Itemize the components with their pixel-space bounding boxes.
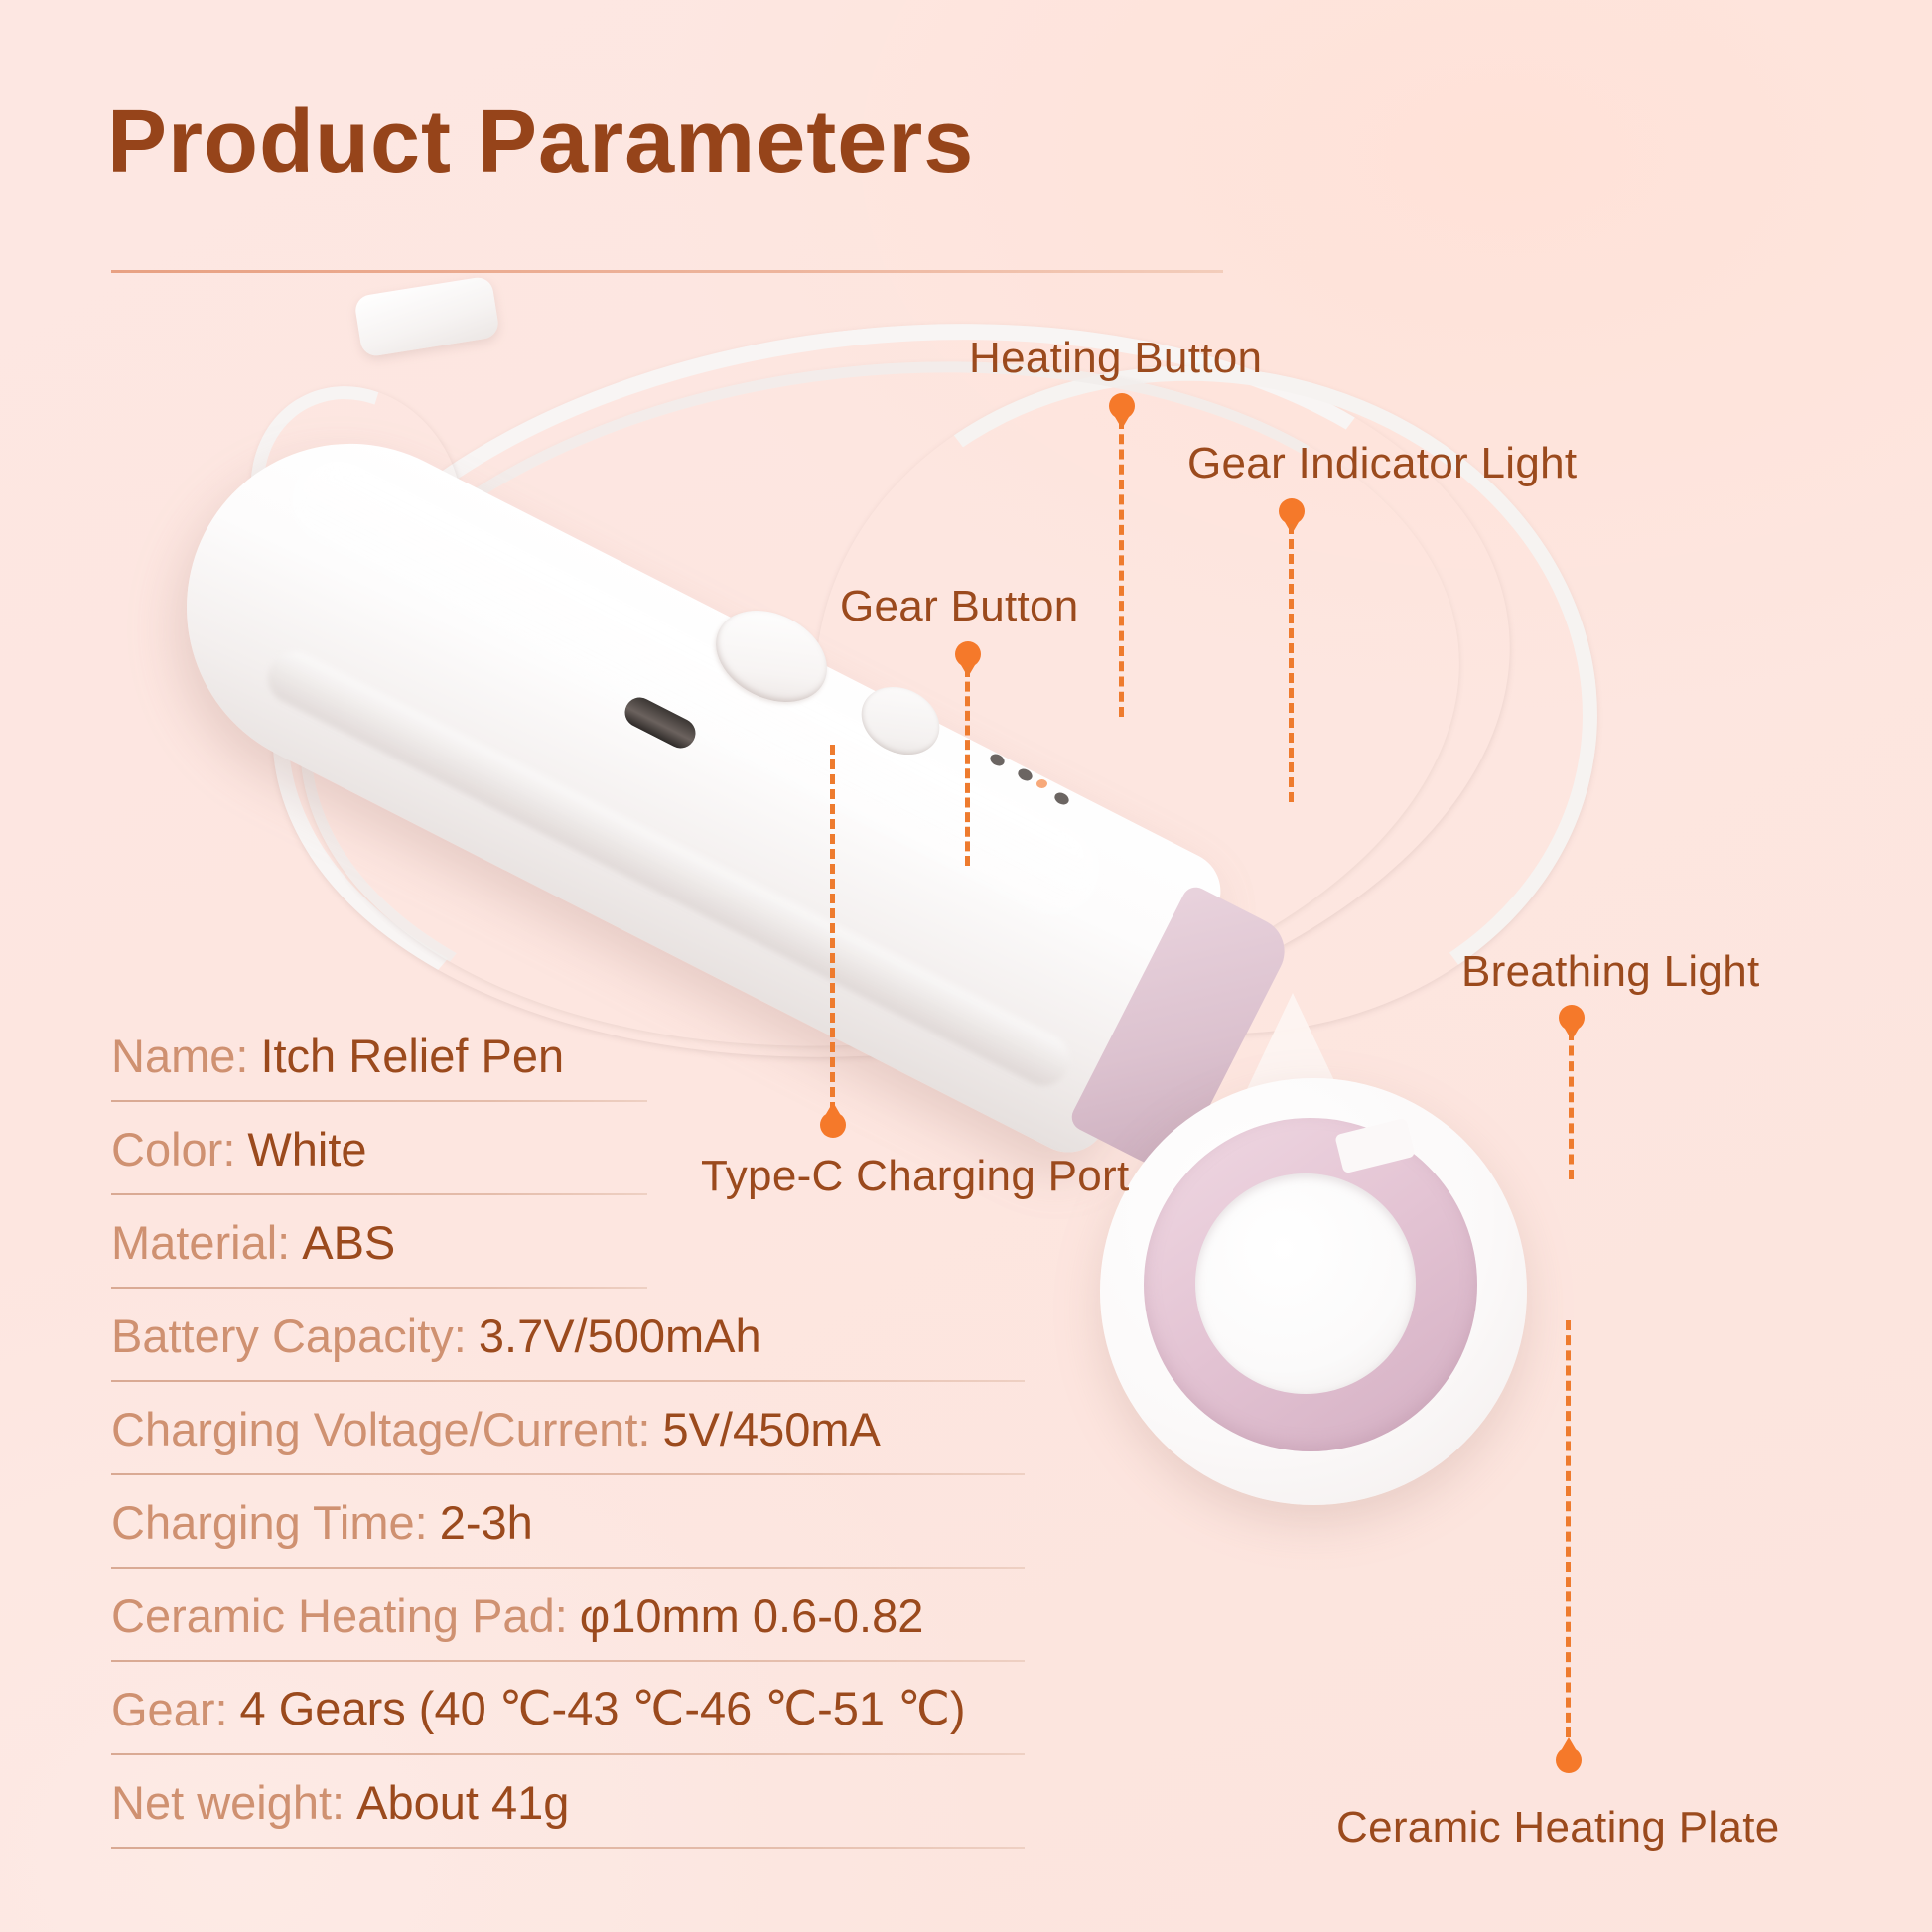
breathing-light-dot	[1036, 779, 1047, 788]
spec-value: 3.7V/500mAh	[479, 1309, 761, 1363]
callout-line-gear-button	[965, 667, 970, 866]
product-parameters-infographic: Product Parameters Heating But	[0, 0, 1932, 1932]
spec-value: White	[247, 1122, 366, 1176]
title-divider	[111, 270, 1223, 273]
ceramic-plate-magnifier	[1100, 1078, 1527, 1505]
callout-line-gear-indicator-light	[1289, 524, 1294, 802]
callout-label-gear-indicator-light: Gear Indicator Light	[1187, 439, 1577, 488]
lanyard-cord-outer	[235, 265, 1547, 1117]
spec-label: Ceramic Heating Pad:	[111, 1588, 568, 1643]
pen-highlight	[275, 445, 1113, 932]
spec-row-charging-time: Charging Time: 2-3h	[111, 1475, 1124, 1569]
callout-pin-gear-button	[955, 641, 981, 667]
callout-line-heating-button	[1119, 419, 1124, 717]
callout-label-breathing-light: Breathing Light	[1461, 947, 1760, 997]
spec-row-color: Color: White	[111, 1102, 1124, 1195]
spec-label: Battery Capacity:	[111, 1309, 467, 1363]
spec-row-ceramic-heating-pad: Ceramic Heating Pad: φ10mm 0.6-0.82	[111, 1569, 1124, 1662]
lanyard-cord-lock	[353, 275, 500, 357]
spec-row-material: Material: ABS	[111, 1195, 1124, 1289]
spec-label: Gear:	[111, 1682, 228, 1736]
spec-label: Material:	[111, 1215, 290, 1270]
callout-line-ceramic-heating-plate	[1566, 1320, 1571, 1737]
spec-row-charging-voltage-current: Charging Voltage/Current: 5V/450mA	[111, 1382, 1124, 1475]
page-title: Product Parameters	[107, 95, 974, 190]
spec-label: Color:	[111, 1122, 235, 1176]
spec-row-battery-capacity: Battery Capacity: 3.7V/500mAh	[111, 1289, 1124, 1382]
callout-label-gear-button: Gear Button	[840, 582, 1079, 631]
ceramic-plate-ring	[1144, 1118, 1477, 1451]
lanyard-cord-inner	[266, 307, 1494, 1102]
spec-label: Charging Time:	[111, 1495, 428, 1550]
heating-button	[850, 674, 951, 767]
spec-value: 5V/450mA	[662, 1402, 880, 1456]
callout-line-breathing-light	[1569, 1031, 1574, 1179]
gear-button	[700, 593, 842, 720]
spec-value: 2-3h	[440, 1495, 533, 1550]
callout-label-ceramic-heating-plate: Ceramic Heating Plate	[1336, 1803, 1780, 1853]
spec-row-name: Name: Itch Relief Pen	[111, 1009, 1124, 1102]
gear-indicator-dot	[1052, 790, 1070, 807]
ceramic-plate-notch	[1334, 1118, 1415, 1174]
spec-value: Itch Relief Pen	[260, 1029, 564, 1083]
spec-row-gear: Gear: 4 Gears (40 ℃-43 ℃-46 ℃-51 ℃)	[111, 1662, 1124, 1755]
callout-pin-ceramic-heating-plate	[1556, 1747, 1582, 1773]
gear-indicator-dot	[1016, 766, 1034, 783]
callout-label-heating-button: Heating Button	[969, 334, 1262, 383]
type-c-port	[620, 692, 700, 753]
spec-value: φ10mm 0.6-0.82	[580, 1588, 924, 1643]
spec-list: Name: Itch Relief Pen Color: White Mater…	[111, 1009, 1124, 1849]
callout-pin-breathing-light	[1559, 1005, 1585, 1031]
spec-row-net-weight: Net weight: About 41g	[111, 1755, 1124, 1849]
lanyard-loop	[211, 348, 502, 651]
callout-pin-heating-button	[1109, 393, 1135, 419]
spec-label: Net weight:	[111, 1775, 345, 1830]
spec-value: ABS	[302, 1215, 395, 1270]
magnifier-cone	[1237, 993, 1348, 1110]
callout-pin-gear-indicator-light	[1279, 498, 1305, 524]
gear-indicator-dot	[988, 752, 1006, 768]
spec-value: About 41g	[356, 1775, 569, 1830]
ceramic-plate-disc	[1195, 1173, 1416, 1394]
spec-value: 4 Gears (40 ℃-43 ℃-46 ℃-51 ℃)	[240, 1681, 966, 1736]
spec-label: Name:	[111, 1029, 248, 1083]
spec-label: Charging Voltage/Current:	[111, 1402, 650, 1456]
